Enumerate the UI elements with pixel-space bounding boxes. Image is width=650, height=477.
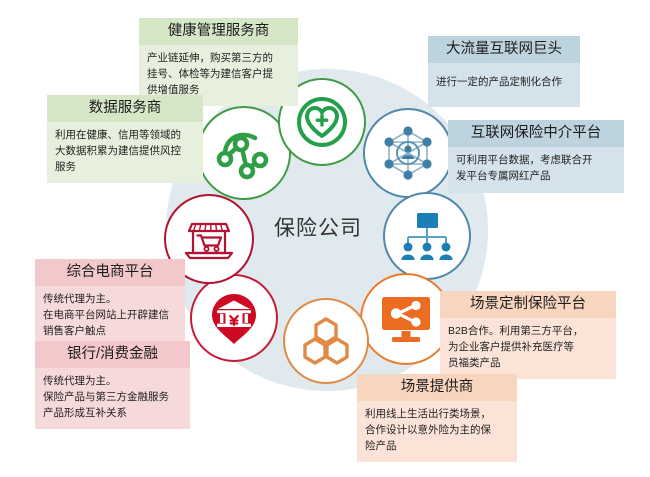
- honeycomb-icon: [297, 312, 355, 370]
- info-line: 产业链延伸，购买第三方的: [147, 51, 290, 67]
- infographic-canvas: 保险公司: [0, 0, 650, 477]
- info-box-body: B2B合作。利用第三方平台， 为企业客户提供补充医疗等 员福类产品: [440, 318, 616, 379]
- info-line: 大数据积累为建信提供风控: [55, 144, 195, 160]
- info-box-title: 互联网保险中介平台: [448, 120, 624, 147]
- info-line: 利用在健康、信用等领域的: [55, 128, 195, 144]
- info-box-health-service[interactable]: 健康管理服务商 产业链延伸，购买第三方的 挂号、体检等为建信客户提 供增值服务: [139, 18, 298, 106]
- info-line: 险产品: [365, 439, 509, 455]
- info-line: 传统代理为主。: [43, 292, 177, 308]
- info-box-title: 场景定制保险平台: [440, 291, 616, 318]
- info-line: 合作设计以意外险为主的保: [365, 423, 509, 439]
- info-box-title: 大流量互联网巨头: [428, 36, 580, 63]
- info-line: 员福类产品: [448, 356, 608, 372]
- info-line: 可利用平台数据，考虑联合开: [456, 153, 616, 169]
- info-box-scene-provider[interactable]: 场景提供商 利用线上生活出行类场景， 合作设计以意外险为主的保 险产品: [357, 374, 517, 462]
- center-label: 保险公司: [238, 212, 398, 242]
- icon-circle-insurance-broker[interactable]: [383, 192, 471, 280]
- info-line: 保险产品与第三方金融服务: [43, 390, 182, 406]
- info-box-title: 场景提供商: [357, 374, 517, 401]
- info-box-insurance-broker[interactable]: 互联网保险中介平台 可利用平台数据，考虑联合开 发平台专属网红产品: [448, 120, 624, 193]
- info-box-body: 传统代理为主。 在电商平台网站上开辟建信 销售客户触点: [35, 286, 185, 347]
- info-line: 服务: [55, 160, 195, 176]
- icon-circle-internet-giant[interactable]: [363, 108, 453, 198]
- info-box-body: 利用在健康、信用等领域的 大数据积累为建信提供风控 服务: [47, 122, 203, 183]
- info-line: 发平台专属网红产品: [456, 169, 616, 185]
- info-box-title: 银行/消费金融: [35, 341, 190, 368]
- network-person-icon: [377, 122, 439, 184]
- icon-circle-scene-provider[interactable]: [283, 298, 369, 384]
- info-box-body: 进行一定的产品定制化合作: [428, 63, 580, 107]
- info-box-body: 传统代理为主。 保险产品与第三方金融服务 产品形成互补关系: [35, 368, 190, 429]
- icon-circle-scene-insurance[interactable]: [360, 273, 452, 365]
- info-line: B2B合作。利用第三方平台，: [448, 324, 608, 340]
- info-box-internet-giant[interactable]: 大流量互联网巨头 进行一定的产品定制化合作: [428, 36, 580, 107]
- info-box-body: 利用线上生活出行类场景， 合作设计以意外险为主的保 险产品: [357, 401, 517, 462]
- info-box-ecommerce[interactable]: 综合电商平台 传统代理为主。 在电商平台网站上开辟建信 销售客户触点: [35, 259, 185, 347]
- node-graph-icon: [213, 122, 275, 184]
- info-box-scene-insurance[interactable]: 场景定制保险平台 B2B合作。利用第三方平台， 为企业客户提供补充医疗等 员福类…: [440, 291, 616, 379]
- info-box-title: 数据服务商: [47, 95, 203, 122]
- bank-yuan-pin-icon: [204, 288, 264, 348]
- info-line: 为企业客户提供补充医疗等: [448, 340, 608, 356]
- share-monitor-icon: [374, 287, 438, 351]
- icon-circle-bank-finance[interactable]: [190, 274, 278, 362]
- info-box-data-service[interactable]: 数据服务商 利用在健康、信用等领域的 大数据积累为建信提供风控 服务: [47, 95, 203, 183]
- heart-plus-icon: [293, 93, 351, 151]
- ecommerce-store-icon: [178, 208, 240, 270]
- icon-circle-data-service[interactable]: [197, 106, 291, 200]
- info-line: 挂号、体检等为建信客户提: [147, 67, 290, 83]
- info-box-title: 综合电商平台: [35, 259, 185, 286]
- org-chart-icon: [396, 205, 458, 267]
- info-line: 产品形成互补关系: [43, 406, 182, 422]
- info-box-body: 可利用平台数据，考虑联合开 发平台专属网红产品: [448, 147, 624, 193]
- info-box-bank-finance[interactable]: 银行/消费金融 传统代理为主。 保险产品与第三方金融服务 产品形成互补关系: [35, 341, 190, 429]
- info-line: 在电商平台网站上开辟建信: [43, 308, 177, 324]
- info-line: 销售客户触点: [43, 324, 177, 340]
- info-line: 传统代理为主。: [43, 374, 182, 390]
- info-line: 进行一定的产品定制化合作: [436, 75, 572, 91]
- info-line: 利用线上生活出行类场景，: [365, 407, 509, 423]
- info-box-title: 健康管理服务商: [139, 18, 298, 45]
